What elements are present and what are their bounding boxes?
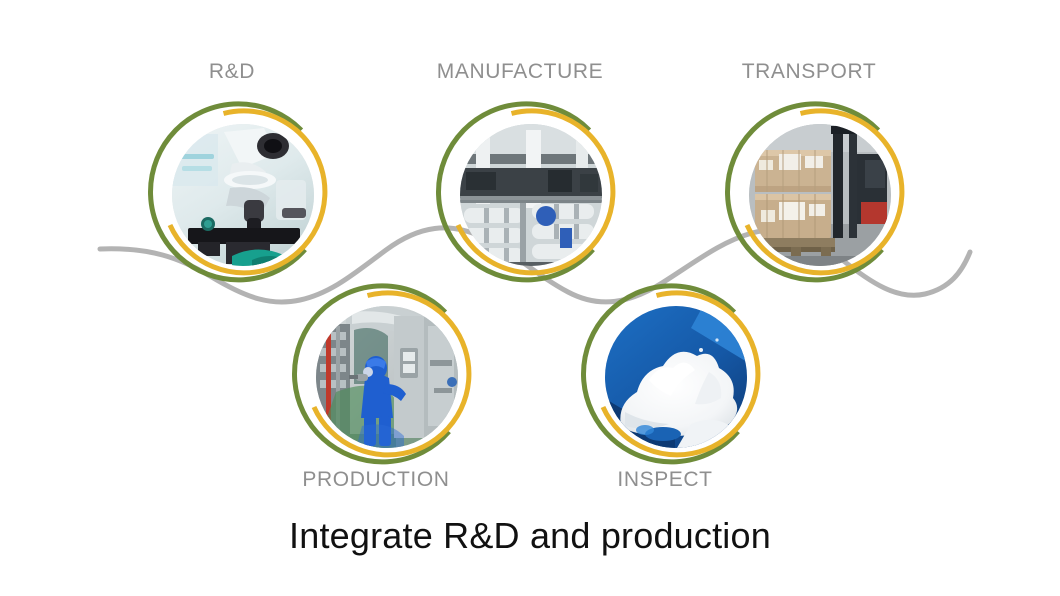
node-manufacture[interactable]: MANUFACTURE xyxy=(440,104,622,286)
ring-transport xyxy=(729,104,911,286)
node-inspect[interactable]: INSPECT xyxy=(585,286,767,468)
ring-rd xyxy=(152,104,334,286)
photo-rd xyxy=(172,124,314,266)
ring-production xyxy=(296,286,478,468)
photo-production xyxy=(316,306,458,448)
infographic-canvas: R&D xyxy=(0,0,1060,596)
ring-manufacture xyxy=(440,104,622,286)
node-label-inspect: INSPECT xyxy=(495,468,835,492)
photo-transport xyxy=(749,124,891,266)
ring-inspect xyxy=(585,286,767,468)
node-production[interactable]: PRODUCTION xyxy=(296,286,478,468)
node-transport[interactable]: TRANSPORT xyxy=(729,104,911,286)
page-caption: Integrate R&D and production xyxy=(0,515,1060,557)
photo-inspect xyxy=(605,306,747,448)
node-label-transport: TRANSPORT xyxy=(639,60,979,84)
node-rd[interactable]: R&D xyxy=(152,104,334,286)
wave-connector xyxy=(0,0,1060,596)
photo-manufacture xyxy=(460,124,602,266)
